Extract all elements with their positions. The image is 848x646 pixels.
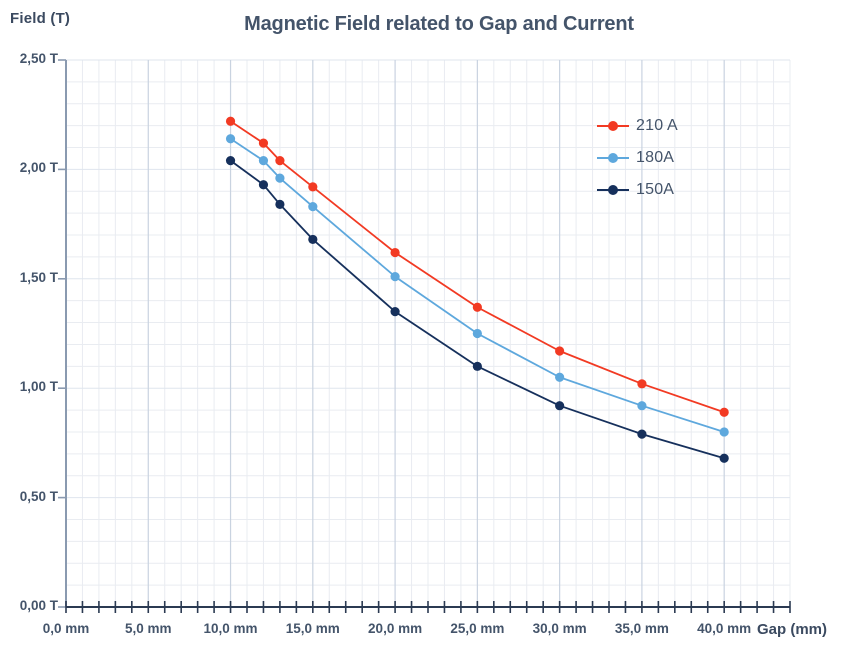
data-point (259, 156, 268, 165)
x-axis-tick-label: 20,0 mm (355, 621, 435, 636)
legend-dot-icon (608, 153, 618, 163)
data-point (226, 134, 235, 143)
data-point (473, 329, 482, 338)
x-axis-tick-label: 40,0 mm (684, 621, 764, 636)
data-point (390, 307, 399, 316)
y-axis-tick-label: 2,00 T (2, 160, 58, 175)
x-axis-tick-label: 35,0 mm (602, 621, 682, 636)
data-point (226, 156, 235, 165)
data-point (637, 401, 646, 410)
legend-dot-icon (608, 185, 618, 195)
legend-label: 180A (636, 149, 674, 167)
y-axis-tick-label: 0,50 T (2, 489, 58, 504)
data-point (259, 180, 268, 189)
legend-item[interactable]: 210 A (597, 110, 678, 142)
data-point (720, 427, 729, 436)
data-point (308, 202, 317, 211)
x-axis-tick-label: 30,0 mm (520, 621, 600, 636)
y-axis-tick-label: 2,50 T (2, 51, 58, 66)
data-point (637, 430, 646, 439)
data-point (720, 408, 729, 417)
y-axis-tick-label: 1,50 T (2, 270, 58, 285)
legend-label: 210 A (636, 117, 678, 135)
x-axis-tick-label: 10,0 mm (191, 621, 271, 636)
data-point (390, 272, 399, 281)
legend-marker-icon (597, 120, 629, 132)
data-point (555, 401, 564, 410)
y-axis-tick-label: 0,00 T (2, 598, 58, 613)
data-point (275, 174, 284, 183)
legend-item[interactable]: 180A (597, 142, 678, 174)
data-point (259, 139, 268, 148)
data-point (308, 235, 317, 244)
data-point (473, 362, 482, 371)
chart-container: Field (T) Magnetic Field related to Gap … (0, 0, 848, 646)
legend-dot-icon (608, 121, 618, 131)
data-point (555, 346, 564, 355)
data-point (226, 117, 235, 126)
x-axis-tick-label: 5,0 mm (108, 621, 188, 636)
data-point (275, 156, 284, 165)
legend-marker-icon (597, 152, 629, 164)
data-point (637, 379, 646, 388)
data-point (275, 200, 284, 209)
data-point (473, 303, 482, 312)
data-point (720, 454, 729, 463)
x-axis-tick-label: 15,0 mm (273, 621, 353, 636)
legend-label: 150A (636, 181, 674, 199)
legend-marker-icon (597, 184, 629, 196)
y-axis-tick-label: 1,00 T (2, 379, 58, 394)
chart-legend: 210 A180A150A (597, 110, 678, 206)
x-axis-tick-label: 25,0 mm (437, 621, 517, 636)
x-axis-tick-label: 0,0 mm (26, 621, 106, 636)
plot-area (0, 0, 848, 646)
data-point (390, 248, 399, 257)
data-point (308, 182, 317, 191)
legend-item[interactable]: 150A (597, 174, 678, 206)
data-point (555, 373, 564, 382)
